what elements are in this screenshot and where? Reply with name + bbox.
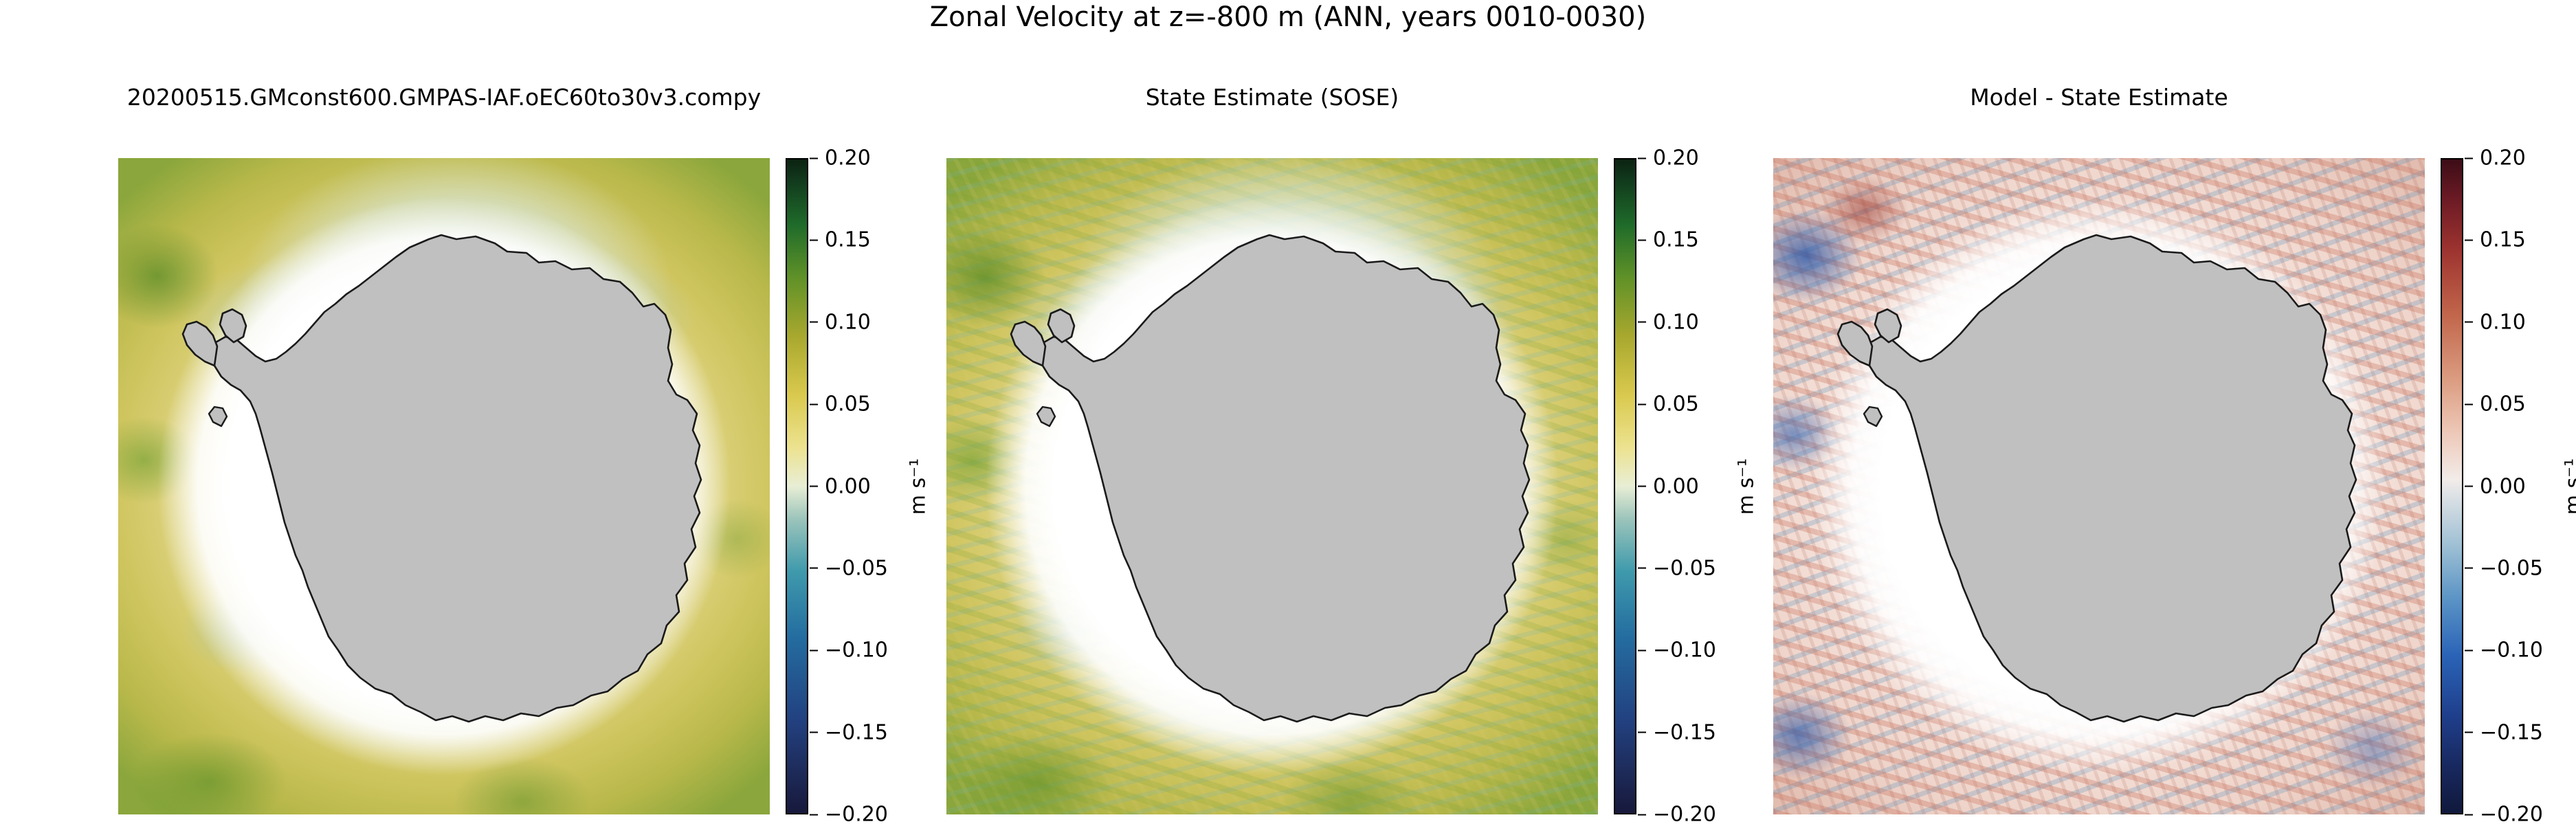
map-panel-model[interactable]: 20200515.GMconst600.GMPAS-IAF.oEC60to30v… [118,158,770,814]
tick-label: 0.15 [1653,228,1699,252]
tick-mark [810,732,818,733]
tick-label: 0.20 [1653,146,1699,170]
tick-label: 0.05 [1653,392,1699,416]
tick-mark [1638,649,1646,651]
tick-mark [810,322,818,323]
tick-mark [1638,814,1646,815]
tick-mark [810,157,818,159]
tick-label: −0.05 [2480,556,2543,580]
tick-label: 0.15 [825,228,871,252]
panel-title-difference: Model - State Estimate [1672,84,2527,111]
tick-label: 0.05 [825,392,871,416]
tick-mark [810,403,818,405]
colorbar-difference[interactable]: 0.20 0.15 0.10 0.05 0.00 −0.05 −0.10 −0.… [2441,158,2463,814]
tick-label: −0.20 [2480,803,2543,827]
map-area-model[interactable] [118,158,770,814]
tick-label: −0.15 [2480,720,2543,744]
tick-label: 0.20 [825,146,871,170]
tick-label: 0.05 [2480,392,2526,416]
tick-mark [810,649,818,651]
tick-mark [2465,732,2473,733]
antarctica-landmass [118,158,770,814]
tick-label: −0.10 [2480,638,2543,663]
tick-mark [810,486,818,487]
tick-label: 0.20 [2480,146,2526,170]
tick-mark [1638,403,1646,405]
tick-label: 0.15 [2480,228,2526,252]
tick-mark [1638,732,1646,733]
map-panel-difference[interactable]: Model - State Estimate [1773,158,2425,814]
tick-label: 0.10 [825,310,871,334]
tick-label: −0.15 [1653,720,1716,744]
map-area-sose[interactable] [946,158,1598,814]
tick-mark [1638,486,1646,487]
antarctica-landmass [946,158,1598,814]
tick-label: −0.05 [1653,556,1716,580]
tick-mark [2465,568,2473,569]
tick-mark [810,239,818,241]
tick-mark [2465,239,2473,241]
tick-mark [2465,814,2473,815]
colorbar-model[interactable]: 0.20 0.15 0.10 0.05 0.00 −0.05 −0.10 −0.… [786,158,808,814]
tick-mark [2465,403,2473,405]
tick-label: −0.20 [1653,803,1716,827]
colorbar-ticks-difference: 0.20 0.15 0.10 0.05 0.00 −0.05 −0.10 −0.… [2465,158,2576,814]
antarctica-landmass [1773,158,2425,814]
tick-label: 0.00 [1653,474,1699,498]
tick-mark [2465,157,2473,159]
panel-title-model: 20200515.GMconst600.GMPAS-IAF.oEC60to30v… [0,84,888,111]
tick-label: 0.10 [1653,310,1699,334]
panel-title-sose: State Estimate (SOSE) [845,84,1700,111]
tick-label: −0.15 [825,720,888,744]
tick-mark [810,814,818,815]
colorbar-gradient-balance [2442,159,2462,813]
tick-label: −0.10 [825,638,888,663]
figure-canvas: Zonal Velocity at z=-800 m (ANN, years 0… [0,0,2576,833]
tick-label: −0.20 [825,803,888,827]
tick-label: 0.00 [2480,474,2526,498]
map-area-difference[interactable] [1773,158,2425,814]
tick-label: −0.10 [1653,638,1716,663]
colorbar-unit-label-sose: m s⁻¹ [1735,458,1759,514]
tick-mark [2465,649,2473,651]
map-panel-sose[interactable]: State Estimate (SOSE) [946,158,1598,814]
tick-mark [810,568,818,569]
colorbar-gradient-delta [787,159,807,813]
colorbar-unit-label-model: m s⁻¹ [907,458,931,514]
colorbar-sose[interactable]: 0.20 0.15 0.10 0.05 0.00 −0.05 −0.10 −0.… [1614,158,1636,814]
figure-suptitle: Zonal Velocity at z=-800 m (ANN, years 0… [0,1,2576,33]
tick-label: −0.05 [825,556,888,580]
tick-mark [1638,568,1646,569]
tick-label: 0.10 [2480,310,2526,334]
tick-label: 0.00 [825,474,871,498]
tick-mark [1638,322,1646,323]
tick-mark [2465,322,2473,323]
tick-mark [1638,239,1646,241]
colorbar-unit-label-difference: m s⁻¹ [2562,458,2576,514]
colorbar-gradient-delta [1615,159,1635,813]
tick-mark [2465,486,2473,487]
tick-mark [1638,157,1646,159]
